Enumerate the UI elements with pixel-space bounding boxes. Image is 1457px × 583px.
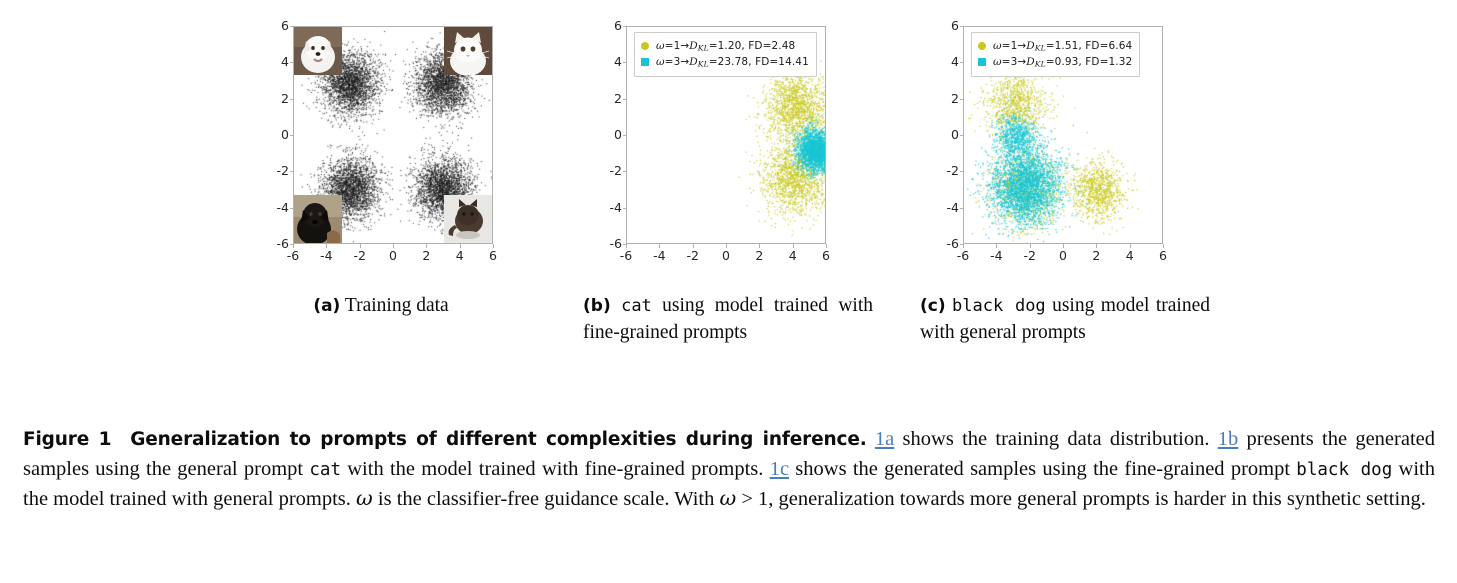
caption-part-4: shows the generated samples using the fi…	[789, 458, 1296, 480]
panel-a-xtick-0: 0	[375, 248, 411, 263]
caption-omega-symbol-2: ω	[720, 486, 737, 510]
caption-prompt-cat: cat	[309, 460, 341, 480]
panel-b-xtick-0: 0	[708, 248, 744, 263]
panel-c-ytick-4: 4	[951, 54, 959, 69]
legend-entry-omega1: ω=1→DKL=1.20, FD=2.48	[641, 38, 809, 54]
panel-c-ytick-6: 6	[951, 18, 959, 33]
inset-black-dog	[294, 195, 342, 243]
caption-part-3: with the model trained with fine-grained…	[341, 458, 770, 480]
panel-a-training-data: 6 4 2 0 -2 -4 -6 -6 -4 -2 0 2 4 6	[255, 20, 505, 275]
panel-a-xtick-m2: -2	[342, 248, 378, 263]
inset-black-cat	[444, 195, 492, 243]
panel-c-xtick-m2: -2	[1012, 248, 1048, 263]
legend-label-omega1: ω=1→DKL=1.20, FD=2.48	[656, 38, 795, 54]
caption-part-7: > 1, generalization towards more general…	[736, 488, 1426, 510]
panel-b-xtick-6: 6	[808, 248, 844, 263]
panel-b-cat-finegrained: ω=1→DKL=1.20, FD=2.48 ω=3→DKL=23.78, FD=…	[588, 20, 838, 275]
panel-b-ytick-2: 2	[614, 91, 622, 106]
legend-label-omega1: ω=1→DKL=1.51, FD=6.64	[993, 38, 1132, 54]
figure-panels-row: 6 4 2 0 -2 -4 -6 -6 -4 -2 0 2 4 6 ω=1→DK	[0, 0, 1457, 400]
subcaption-c-label: (c)	[920, 296, 946, 316]
panel-a-xtick-4: 4	[442, 248, 478, 263]
caption-ref-1a[interactable]: 1a	[875, 428, 894, 450]
panel-c-blackdog-general: ω=1→DKL=1.51, FD=6.64 ω=3→DKL=0.93, FD=1…	[925, 20, 1175, 275]
subcaption-a-text: Training data	[345, 295, 449, 316]
legend-marker-circle-icon	[641, 42, 649, 50]
caption-ref-1b[interactable]: 1b	[1218, 428, 1239, 450]
panel-a-ytick-4: 4	[281, 54, 289, 69]
legend-marker-square-icon	[641, 58, 649, 66]
panel-b-legend: ω=1→DKL=1.20, FD=2.48 ω=3→DKL=23.78, FD=…	[634, 32, 817, 77]
legend-label-omega3: ω=3→DKL=23.78, FD=14.41	[656, 54, 809, 70]
panel-b-ytick-0: 0	[614, 127, 622, 142]
legend-entry-omega3: ω=3→DKL=23.78, FD=14.41	[641, 54, 809, 70]
caption-head: Generalization to prompts of different c…	[130, 429, 866, 450]
subcaption-b-prompt: cat	[621, 296, 652, 316]
caption-figure-number: Figure 1	[23, 429, 111, 450]
panel-a-ytick-0: 0	[281, 127, 289, 142]
panel-b-ytick-m2: -2	[610, 163, 622, 178]
panel-c-xtick-m4: -4	[978, 248, 1014, 263]
panel-b-xtick-m2: -2	[675, 248, 711, 263]
panel-c-ytick-2: 2	[951, 91, 959, 106]
panel-b-ytick-4: 4	[614, 54, 622, 69]
caption-part-1: shows the training data distribution.	[894, 428, 1218, 450]
legend-marker-circle-icon	[978, 42, 986, 50]
subcaption-b-label: (b)	[583, 296, 611, 316]
panel-c-xtick-4: 4	[1112, 248, 1148, 263]
caption-part-6: is the classifier-free guidance scale. W…	[373, 488, 720, 510]
panel-a-xtick-m6: -6	[275, 248, 311, 263]
subcaption-a: (a) Training data	[256, 293, 506, 320]
panel-c-legend: ω=1→DKL=1.51, FD=6.64 ω=3→DKL=0.93, FD=1…	[971, 32, 1140, 77]
panel-c-ytick-m2: -2	[947, 163, 959, 178]
panel-c-xtick-2: 2	[1078, 248, 1114, 263]
panel-b-xtick-2: 2	[741, 248, 777, 263]
panel-b-ytick-6: 6	[614, 18, 622, 33]
caption-omega-symbol-1: ω	[356, 486, 373, 510]
legend-marker-square-icon	[978, 58, 986, 66]
panel-a-xtick-2: 2	[408, 248, 444, 263]
inset-white-cat	[444, 27, 492, 75]
panel-c-xtick-m6: -6	[945, 248, 981, 263]
subcaption-b: (b) cat using model trained with fine-gr…	[583, 293, 873, 347]
caption-prompt-black-dog: black dog	[1296, 460, 1392, 480]
panel-a-ytick-m2: -2	[277, 163, 289, 178]
subcaption-a-label: (a)	[313, 296, 340, 316]
subcaption-c: (c) black dog using model trained with g…	[920, 293, 1210, 347]
panel-a-plot: 6 4 2 0 -2 -4 -6 -6 -4 -2 0 2 4 6	[255, 20, 505, 275]
panel-c-plot: ω=1→DKL=1.51, FD=6.64 ω=3→DKL=0.93, FD=1…	[925, 20, 1175, 275]
panel-c-xtick-0: 0	[1045, 248, 1081, 263]
panel-a-ytick-m4: -4	[277, 200, 289, 215]
figure-caption: Figure 1 Generalization to prompts of di…	[23, 425, 1435, 515]
inset-white-dog	[294, 27, 342, 75]
panel-c-xtick-6: 6	[1145, 248, 1181, 263]
subcaption-c-prompt: black dog	[952, 296, 1046, 316]
panel-a-axes	[293, 26, 493, 244]
legend-entry-omega3: ω=3→DKL=0.93, FD=1.32	[978, 54, 1132, 70]
panel-b-xtick-m6: -6	[608, 248, 644, 263]
panel-a-ytick-2: 2	[281, 91, 289, 106]
legend-label-omega3: ω=3→DKL=0.93, FD=1.32	[993, 54, 1132, 70]
panel-c-ytick-0: 0	[951, 127, 959, 142]
panel-c-ytick-m4: -4	[947, 200, 959, 215]
panel-b-xtick-m4: -4	[641, 248, 677, 263]
panel-a-xtick-6: 6	[475, 248, 511, 263]
panel-a-xtick-m4: -4	[308, 248, 344, 263]
legend-entry-omega1: ω=1→DKL=1.51, FD=6.64	[978, 38, 1132, 54]
panel-b-plot: ω=1→DKL=1.20, FD=2.48 ω=3→DKL=23.78, FD=…	[588, 20, 838, 275]
panel-a-ytick-6: 6	[281, 18, 289, 33]
caption-ref-1c[interactable]: 1c	[770, 458, 789, 480]
panel-b-ytick-m4: -4	[610, 200, 622, 215]
panel-b-xtick-4: 4	[775, 248, 811, 263]
